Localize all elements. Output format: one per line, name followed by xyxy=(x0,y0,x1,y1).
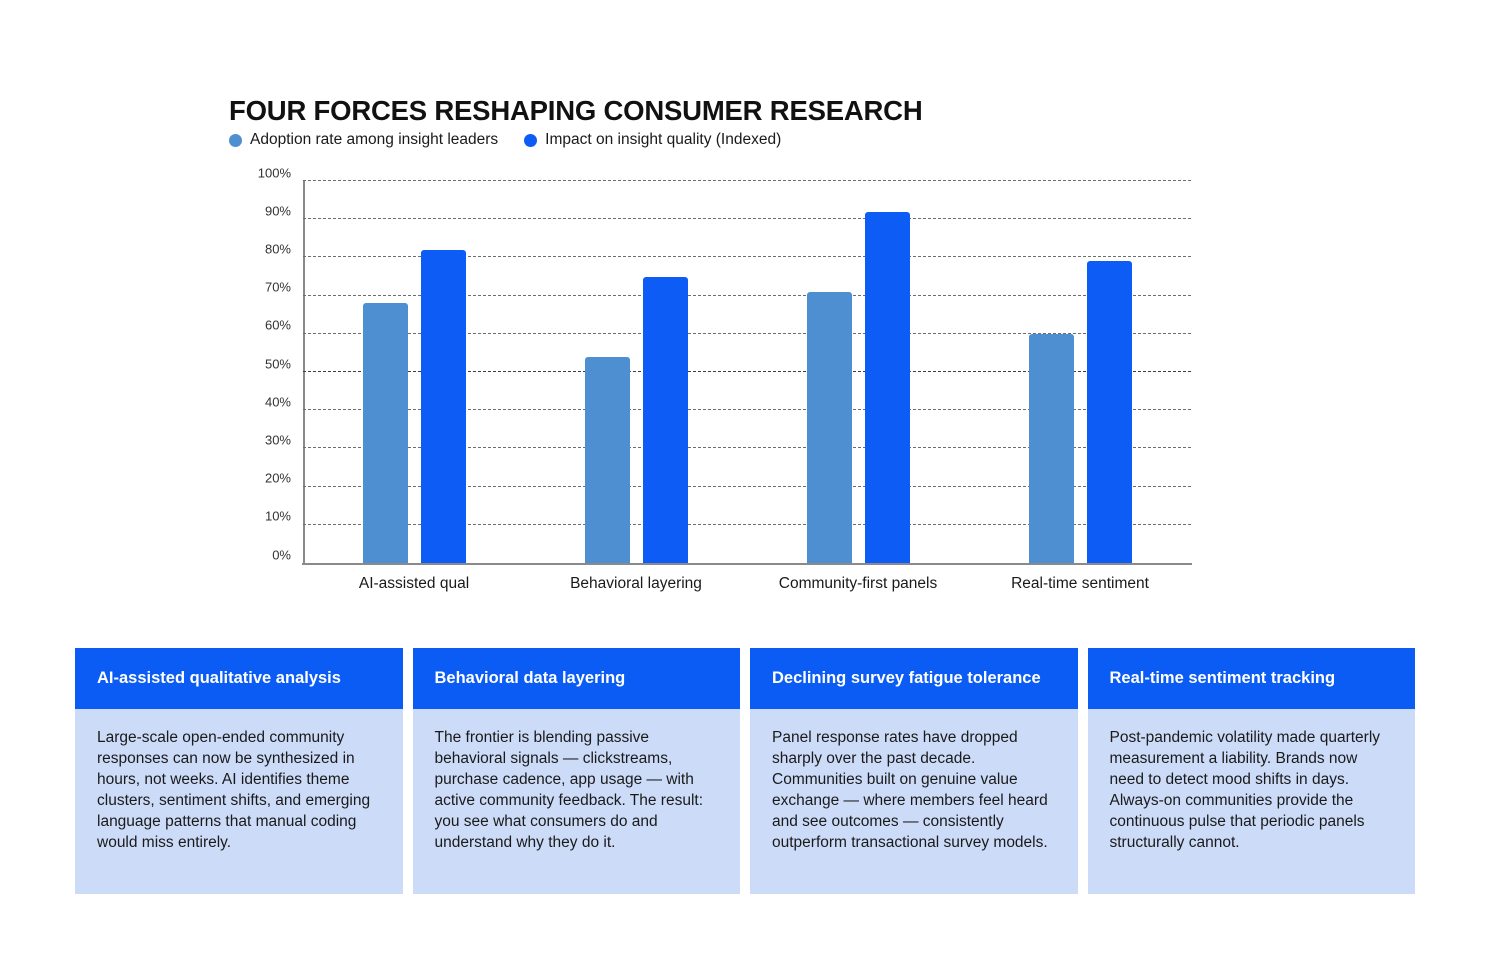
x-axis-tick-label: Community-first panels xyxy=(779,575,938,593)
insight-card-title: Declining survey fatigue tolerance xyxy=(750,648,1078,709)
y-axis-tick-label: 50% xyxy=(265,356,291,371)
y-axis-tick-label: 0% xyxy=(272,547,291,562)
plot-frame: 100%90%80%70%60%50%40%30%20%10%0% AI-ass… xyxy=(303,181,1191,563)
insight-card-title: Real-time sentiment tracking xyxy=(1088,648,1416,709)
chart-block: FOUR FORCES RESHAPING CONSUMER RESEARCH … xyxy=(0,0,1488,620)
insight-card-body: Large-scale open-ended community respons… xyxy=(75,709,403,894)
bar-group: Real-time sentiment xyxy=(969,181,1191,563)
chart-legend: Adoption rate among insight leaders Impa… xyxy=(229,130,781,150)
y-axis-tick-label: 100% xyxy=(258,165,291,180)
chart-title: FOUR FORCES RESHAPING CONSUMER RESEARCH xyxy=(229,95,923,127)
insight-card: Real-time sentiment trackingPost-pandemi… xyxy=(1088,648,1416,894)
bar-group: Behavioral layering xyxy=(525,181,747,563)
insight-card-body: Post-pandemic volatility made quarterly … xyxy=(1088,709,1416,894)
y-axis-tick-label: 40% xyxy=(265,394,291,409)
bar-series-b[interactable] xyxy=(421,250,466,563)
legend-color-dot-series-a xyxy=(229,134,242,147)
plot-area: 100%90%80%70%60%50%40%30%20%10%0% AI-ass… xyxy=(303,181,1191,563)
bar-series-b[interactable] xyxy=(643,277,688,564)
y-axis-tick-label: 60% xyxy=(265,318,291,333)
insight-card-title: Behavioral data layering xyxy=(413,648,741,709)
insight-card: Behavioral data layeringThe frontier is … xyxy=(413,648,741,894)
bar-series-b[interactable] xyxy=(865,212,910,563)
bar-series-a[interactable] xyxy=(807,292,852,563)
y-axis-tick-label: 30% xyxy=(265,432,291,447)
legend-item-series-a[interactable]: Adoption rate among insight leaders xyxy=(229,131,498,149)
insight-cards: AI-assisted qualitative analysisLarge-sc… xyxy=(75,648,1415,894)
insight-card: AI-assisted qualitative analysisLarge-sc… xyxy=(75,648,403,894)
bar-group: AI-assisted qual xyxy=(303,181,525,563)
bar-series-b[interactable] xyxy=(1087,261,1132,563)
insight-card: Declining survey fatigue tolerancePanel … xyxy=(750,648,1078,894)
bar-series-a[interactable] xyxy=(1029,334,1074,563)
y-axis-tick-label: 70% xyxy=(265,280,291,295)
legend-item-series-b[interactable]: Impact on insight quality (Indexed) xyxy=(524,131,781,149)
x-axis-tick-label: AI-assisted qual xyxy=(359,575,469,593)
y-axis-tick-label: 80% xyxy=(265,241,291,256)
x-axis-tick-label: Behavioral layering xyxy=(570,575,702,593)
insight-card-title: AI-assisted qualitative analysis xyxy=(75,648,403,709)
y-axis-tick-label: 20% xyxy=(265,471,291,486)
x-axis-tick-label: Real-time sentiment xyxy=(1011,575,1149,593)
legend-label-series-b: Impact on insight quality (Indexed) xyxy=(545,131,781,149)
y-axis-tick-label: 90% xyxy=(265,203,291,218)
insight-card-body: The frontier is blending passive behavio… xyxy=(413,709,741,894)
legend-label-series-a: Adoption rate among insight leaders xyxy=(250,131,498,149)
insight-card-body: Panel response rates have dropped sharpl… xyxy=(750,709,1078,894)
legend-color-dot-series-b xyxy=(524,134,537,147)
bar-series-a[interactable] xyxy=(585,357,630,563)
bar-group: Community-first panels xyxy=(747,181,969,563)
bar-series-a[interactable] xyxy=(363,303,408,563)
y-axis-tick-label: 10% xyxy=(265,509,291,524)
